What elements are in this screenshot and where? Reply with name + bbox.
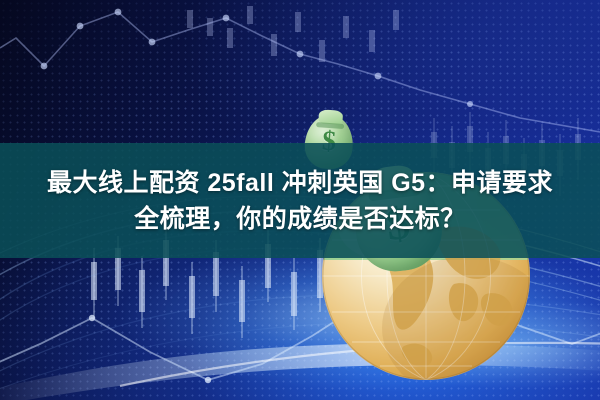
- node-line-chart: [0, 9, 600, 132]
- headline-line-2: 全梳理，你的成绩是否达标？: [134, 203, 466, 235]
- candlestick-chart-top: [187, 0, 399, 82]
- headline: 最大线上配资 25fall 冲刺英国 G5：申请要求 全梳理，你的成绩是否达标？: [0, 143, 600, 258]
- headline-line-1: 最大线上配资 25fall 冲刺英国 G5：申请要求: [47, 167, 553, 199]
- banner-canvas: $ $ 最大线上配资 25fall 冲刺英国 G5：申请要求 全梳理，你的成绩是…: [0, 0, 600, 400]
